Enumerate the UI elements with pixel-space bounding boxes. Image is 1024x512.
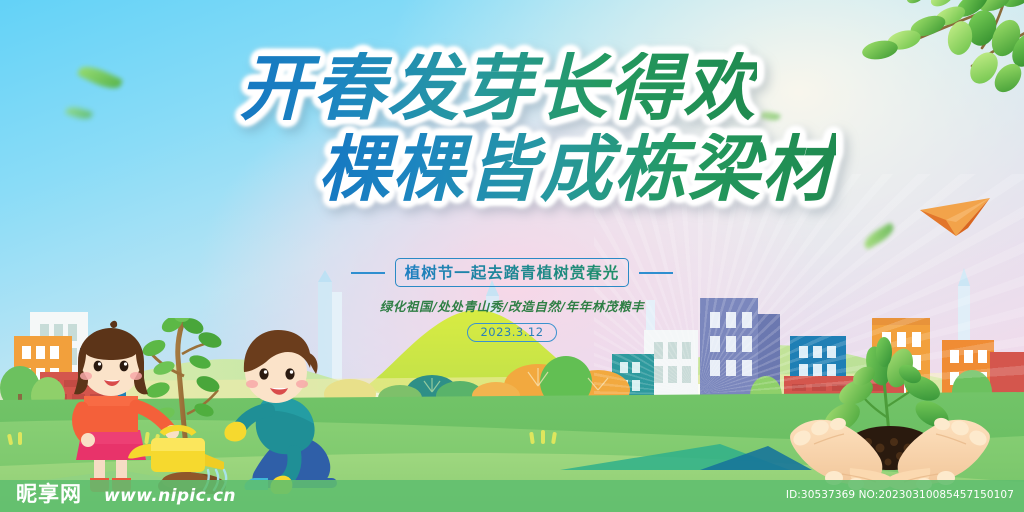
- date-badge: 2023.3.12: [467, 323, 556, 342]
- subtitle-row: 植树节一起去踏青植树赏春光: [0, 258, 1024, 287]
- divider-right: [639, 272, 673, 274]
- hands-holding-seedling: [780, 318, 1000, 494]
- slogan-text: 绿化祖国/处处青山秀/改造自然/年年林茂粮丰: [0, 296, 1024, 315]
- children-planting-tree: [58, 318, 358, 494]
- divider-left: [351, 272, 385, 274]
- image-id-text: ID:30537369 NO:20230310085457150107: [786, 489, 1014, 501]
- paper-plane-icon: [916, 192, 996, 242]
- leaf-branch-icon: [832, 0, 1024, 126]
- poster-canvas: 开春发芽长得欢 棵棵皆成栋梁材 植树节一起去踏青植树赏春光 绿化祖国/处处青山秀…: [0, 0, 1024, 512]
- nipic-url: www.nipic.cn: [104, 486, 236, 506]
- subtitle-boxed-text: 植树节一起去踏青植树赏春光: [395, 258, 630, 287]
- nipic-logo: 昵享网: [16, 478, 82, 508]
